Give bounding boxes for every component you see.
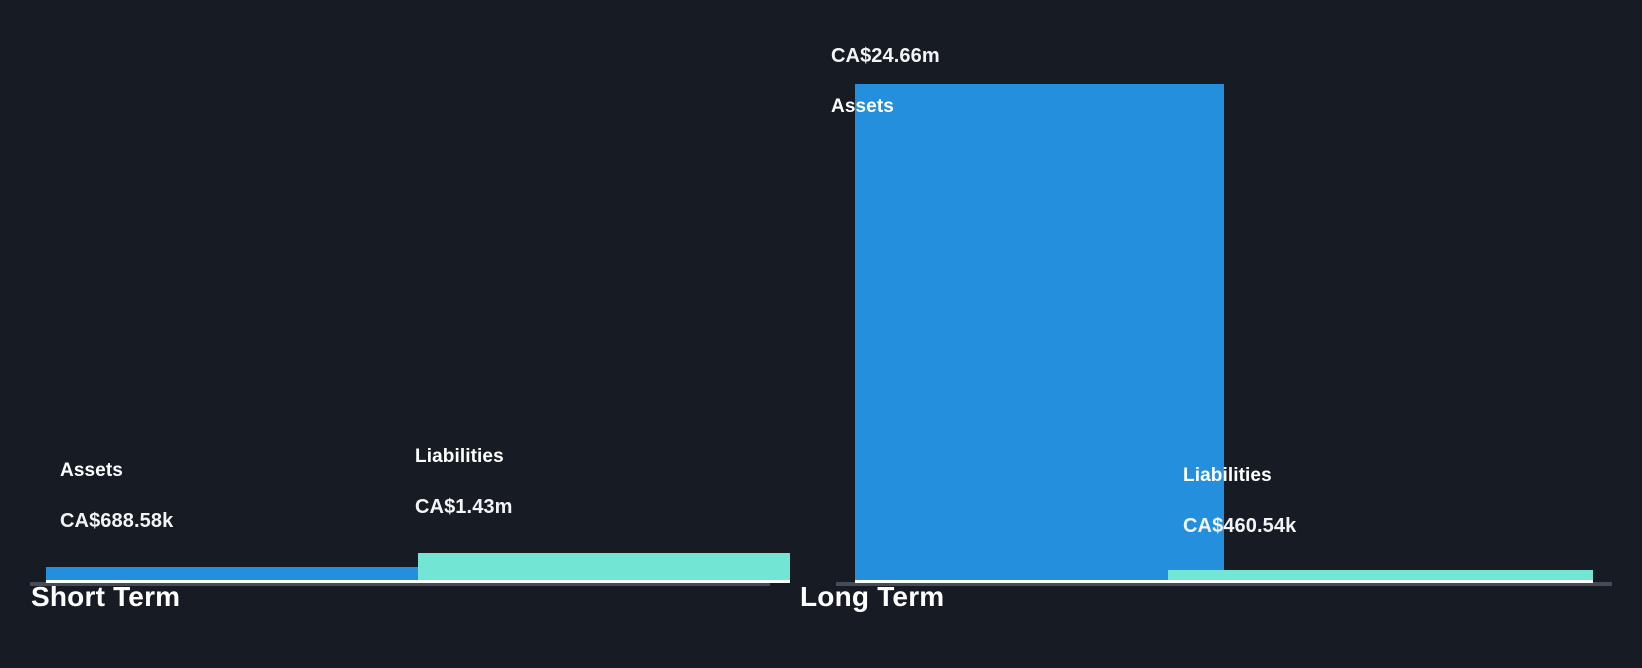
bar-long-term-liabilities[interactable] bbox=[1168, 570, 1593, 583]
panel-long-term: CA$24.66m Assets Liabilities CA$460.54k … bbox=[800, 0, 1642, 668]
bar-short-term-liabilities[interactable] bbox=[418, 553, 790, 583]
bar-long-term-assets[interactable] bbox=[855, 84, 1224, 583]
value-short-term-liabilities: CA$1.43m bbox=[415, 496, 513, 519]
balance-sheet-chart: Assets CA$688.58k Liabilities CA$1.43m S… bbox=[0, 0, 1642, 668]
value-long-term-assets: CA$24.66m bbox=[831, 45, 940, 68]
label-long-term-liabilities: Liabilities bbox=[1183, 465, 1272, 487]
panel-title-long-term: Long Term bbox=[800, 581, 944, 613]
label-long-term-assets: Assets bbox=[831, 96, 894, 118]
panel-short-term: Assets CA$688.58k Liabilities CA$1.43m S… bbox=[0, 0, 800, 668]
value-short-term-assets: CA$688.58k bbox=[60, 510, 173, 533]
label-short-term-liabilities: Liabilities bbox=[415, 446, 504, 468]
panel-title-short-term: Short Term bbox=[31, 581, 180, 613]
label-short-term-assets: Assets bbox=[60, 460, 123, 482]
value-long-term-liabilities: CA$460.54k bbox=[1183, 515, 1296, 538]
